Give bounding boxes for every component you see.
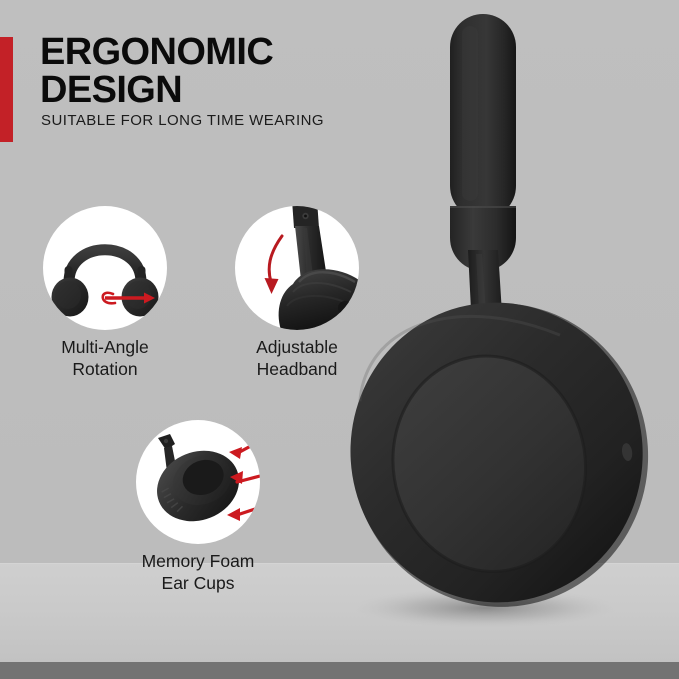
product-feature-poster: ERGONOMIC DESIGN SUITABLE FOR LONG TIME … — [0, 0, 679, 679]
caption-line-2: Rotation — [1, 358, 209, 380]
caption-line-2: Ear Cups — [94, 572, 302, 594]
headphones-front-rotation-icon — [43, 206, 167, 330]
feature-caption-3: Memory Foam Ear Cups — [94, 550, 302, 594]
product-photo-headphone — [340, 0, 679, 679]
caption-line-1: Multi-Angle — [1, 336, 209, 358]
footer-strip — [0, 662, 679, 679]
headband-pad — [450, 14, 516, 219]
red-accent-bar — [0, 37, 13, 142]
caption-line-1: Memory Foam — [94, 550, 302, 572]
feature-caption-1: Multi-Angle Rotation — [1, 336, 209, 380]
over-ear-headphone-side-view — [340, 0, 679, 679]
page-subtitle: SUITABLE FOR LONG TIME WEARING — [41, 112, 324, 129]
feature-icon-disc-1 — [43, 206, 167, 330]
ear-cup — [340, 281, 670, 629]
feature-icon-disc-3 — [136, 420, 260, 544]
ear-cup-cushion-icon — [136, 420, 260, 544]
